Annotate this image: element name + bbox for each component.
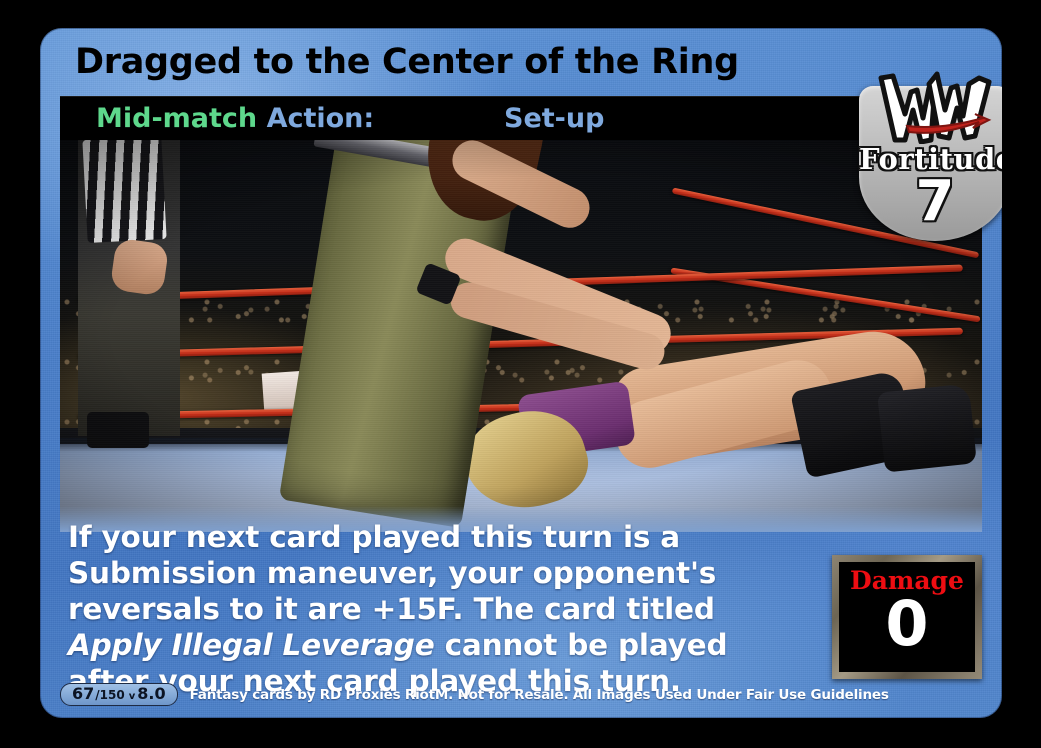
screenshot-root: Dragged to the Center of the Ring Mid-ma… — [0, 0, 1041, 748]
title-band: Dragged to the Center of the Ring — [40, 28, 1002, 96]
wwe-scratch-logo-icon — [871, 70, 999, 144]
card-footer: 67/150v8.0 Fantasy cards by RD Proxies R… — [40, 683, 1002, 706]
card-text-part-1: If your next card played this turn is a … — [68, 520, 716, 626]
damage-value: 0 — [885, 595, 928, 654]
card-title: Dragged to the Center of the Ring — [75, 42, 739, 82]
card-type-left: Mid-match Action: — [96, 103, 374, 134]
version-prefix: v — [129, 692, 136, 702]
card-artwork — [60, 132, 982, 532]
card-rules-text: If your next card played this turn is a … — [68, 520, 798, 700]
card-timing: Mid-match — [96, 103, 257, 134]
card-number: 67 — [72, 686, 94, 702]
card-category: Action: — [267, 103, 375, 134]
damage-box: Damage 0 — [832, 555, 982, 679]
card-subtype: Set-up — [504, 103, 604, 134]
damage-box-inner: Damage 0 — [839, 562, 975, 672]
card-type-bar: Mid-match Action: Set-up — [60, 96, 982, 140]
fortitude-value: 7 — [859, 174, 1002, 230]
fortitude-shield: Fortitude 7 — [859, 86, 1002, 241]
raw-deal-card[interactable]: Dragged to the Center of the Ring Mid-ma… — [40, 28, 1002, 718]
card-text-italic-title: Apply Illegal Leverage — [68, 628, 435, 662]
photo-vignette — [60, 132, 982, 532]
card-number-pill: 67/150v8.0 — [60, 683, 178, 706]
card-set-size: /150 — [95, 689, 124, 701]
version-number: 8.0 — [137, 686, 165, 702]
card-credit-text: Fantasy cards by RD Proxies RiotM. Not f… — [190, 687, 889, 703]
